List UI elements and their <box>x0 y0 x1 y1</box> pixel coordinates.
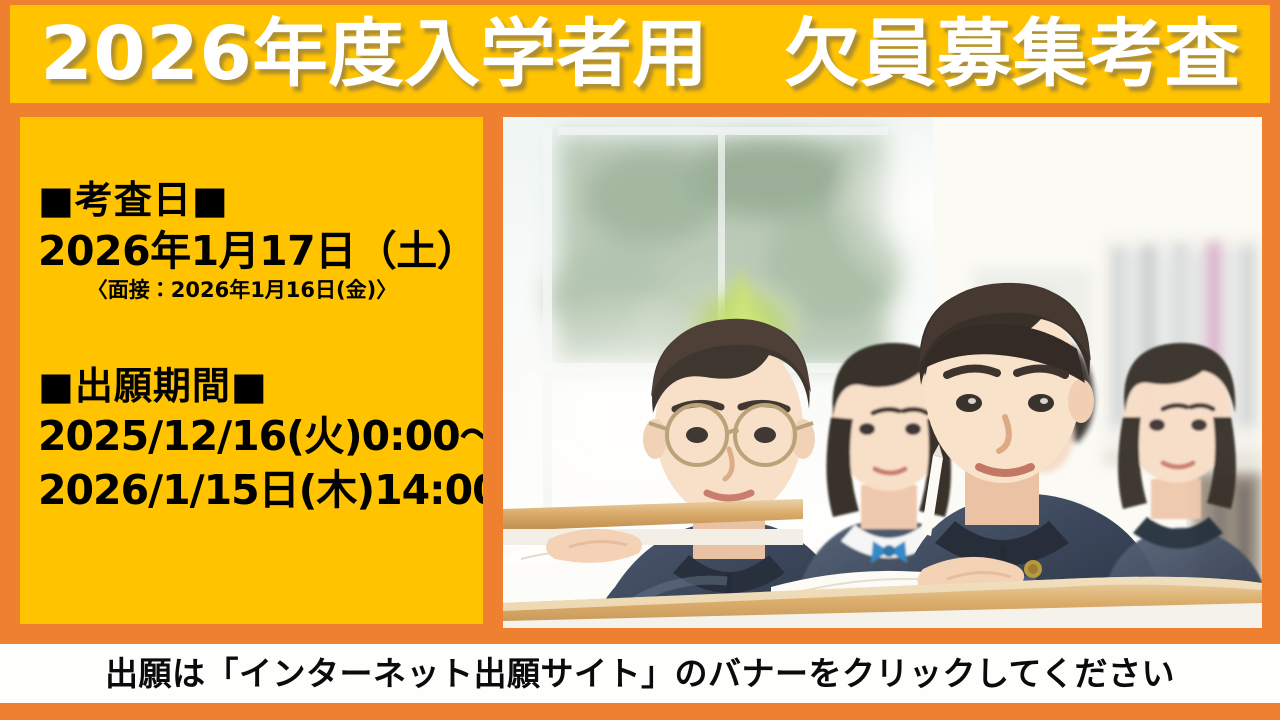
caption-band: 出願は「インターネット出願サイト」のバナーをクリックしてください <box>0 644 1280 703</box>
bottom-accent-strip <box>0 703 1280 720</box>
section-spacer <box>38 303 483 365</box>
interview-date-note: 〈面接：2026年1月16日(金)〉 <box>32 278 452 303</box>
admissions-poster: 2026年度入学者用 欠員募集考査 ■考査日■ 2026年1月17日（土） 〈面… <box>0 0 1280 720</box>
exam-date-heading: ■考査日■ <box>38 179 483 223</box>
exam-date-value: 2026年1月17日（土） <box>38 227 483 276</box>
exam-info-panel: ■考査日■ 2026年1月17日（土） 〈面接：2026年1月16日(金)〉 ■… <box>20 117 483 624</box>
header-banner: 2026年度入学者用 欠員募集考査 <box>10 5 1270 103</box>
classroom-photo-illustration <box>503 117 1262 628</box>
application-instruction-text: 出願は「インターネット出願サイト」のバナーをクリックしてください <box>105 657 1175 690</box>
classroom-photo <box>503 117 1262 628</box>
application-period-start: 2025/12/16(火)0:00〜 <box>38 409 483 463</box>
application-period-end: 2026/1/15日(木)14:00 <box>38 463 483 517</box>
page-title: 2026年度入学者用 欠員募集考査 <box>40 17 1240 91</box>
application-period-heading: ■出願期間■ <box>38 365 483 409</box>
